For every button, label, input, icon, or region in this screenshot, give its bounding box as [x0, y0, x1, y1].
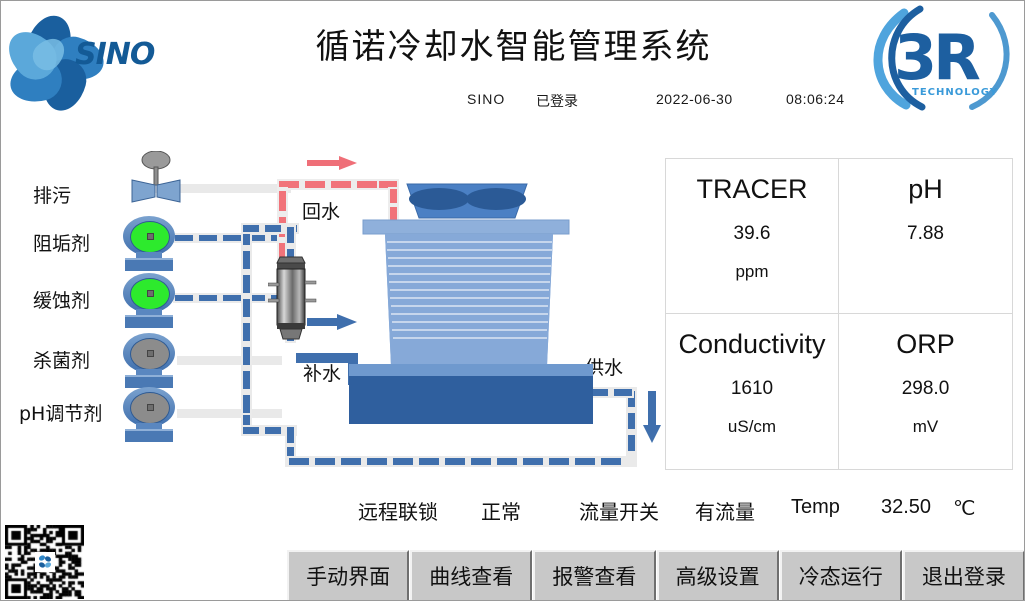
measurement-unit: mV: [913, 417, 939, 437]
pipe-ph: [177, 409, 282, 418]
pump-corrosion-inhibitor[interactable]: [119, 273, 179, 329]
remote-interlock-value: 正常: [481, 496, 521, 525]
label-biocide: 杀菌剂: [33, 346, 90, 373]
measurements-panel: TRACER 39.6 ppm pH 7.88 Conductivity 161…: [665, 158, 1013, 470]
current-user: SINO: [467, 91, 505, 107]
measurement-cell-conductivity: Conductivity 1610 uS/cm: [666, 314, 839, 469]
measurement-cell-ph: pH 7.88: [839, 159, 1012, 314]
current-time: 08:06:24: [786, 91, 845, 107]
measurement-unit: uS/cm: [728, 417, 776, 437]
sino-flower-icon: [37, 554, 53, 570]
measurement-cell-tracer: TRACER 39.6 ppm: [666, 159, 839, 314]
pipe-scale-inhibitor: [173, 233, 291, 243]
curve-view-button[interactable]: 曲线查看: [410, 550, 532, 601]
header-meta: SINO 已登录 2022-06-30 08:06:24: [1, 91, 1025, 113]
measurement-name: TRACER: [696, 175, 807, 205]
pipe-biocide: [177, 356, 282, 365]
current-date: 2022-06-30: [656, 91, 733, 107]
measurement-value: 298.0: [902, 378, 950, 400]
pump-biocide[interactable]: [119, 333, 179, 389]
temp-label: Temp: [791, 496, 840, 519]
label-scale-inhibitor: 阻垢剂: [33, 229, 90, 256]
measurement-cell-orp: ORP 298.0 mV: [839, 314, 1012, 469]
temp-value: 32.50: [881, 496, 931, 519]
qr-code: [5, 525, 84, 599]
pipe-supply-right-riser: [626, 387, 637, 463]
label-return-water: 回水: [300, 197, 342, 224]
qr-center-logo: [35, 552, 55, 572]
logout-button[interactable]: 退出登录: [903, 550, 1025, 601]
blowdown-valve-icon: [125, 151, 187, 203]
measurement-value: 7.88: [907, 223, 944, 245]
flow-switch-value: 有流量: [695, 496, 755, 525]
cooling-tower-icon: [341, 166, 601, 426]
measurement-value: 1610: [731, 378, 773, 400]
temp-unit: ℃: [953, 496, 975, 521]
measurement-unit: ppm: [735, 262, 768, 282]
arrow-supply-down: [643, 391, 661, 443]
page-title: 循诺冷却水智能管理系统: [1, 19, 1025, 68]
label-blowdown: 排污: [33, 181, 71, 208]
alarm-view-button[interactable]: 报警查看: [533, 550, 655, 601]
measurement-value: 39.6: [734, 223, 771, 245]
flow-switch-label: 流量开关: [579, 496, 659, 525]
manual-interface-button[interactable]: 手动界面: [287, 550, 409, 601]
label-corrosion-inhibitor: 缓蚀剂: [33, 286, 90, 313]
pipe-supply-bottom-run: [285, 456, 637, 467]
login-status: 已登录: [536, 91, 578, 111]
label-ph-adjuster: pH调节剂: [19, 399, 102, 426]
status-bar: 远程联锁 正常 流量开关 有流量 Temp 32.50 ℃: [1, 496, 1025, 530]
label-makeup-water: 补水: [301, 359, 343, 386]
measurement-name: ORP: [896, 330, 955, 360]
measurement-name: Conductivity: [678, 330, 825, 360]
advanced-settings-button[interactable]: 高级设置: [657, 550, 779, 601]
pump-scale-inhibitor[interactable]: [119, 216, 179, 272]
heat-exchanger-icon: [268, 253, 308, 339]
measurement-name: pH: [908, 175, 943, 205]
cold-start-run-button[interactable]: 冷态运行: [780, 550, 902, 601]
action-button-bar: 手动界面 曲线查看 报警查看 高级设置 冷态运行 退出登录: [287, 550, 1025, 601]
hmi-screen: SINO 3R TECHNOLOGY 循诺冷却水智能管理系统 SINO 已登录 …: [0, 0, 1025, 601]
remote-interlock-label: 远程联锁: [358, 496, 438, 525]
pipe-supply-riser: [241, 223, 252, 433]
pump-ph-adjuster[interactable]: [119, 387, 179, 443]
